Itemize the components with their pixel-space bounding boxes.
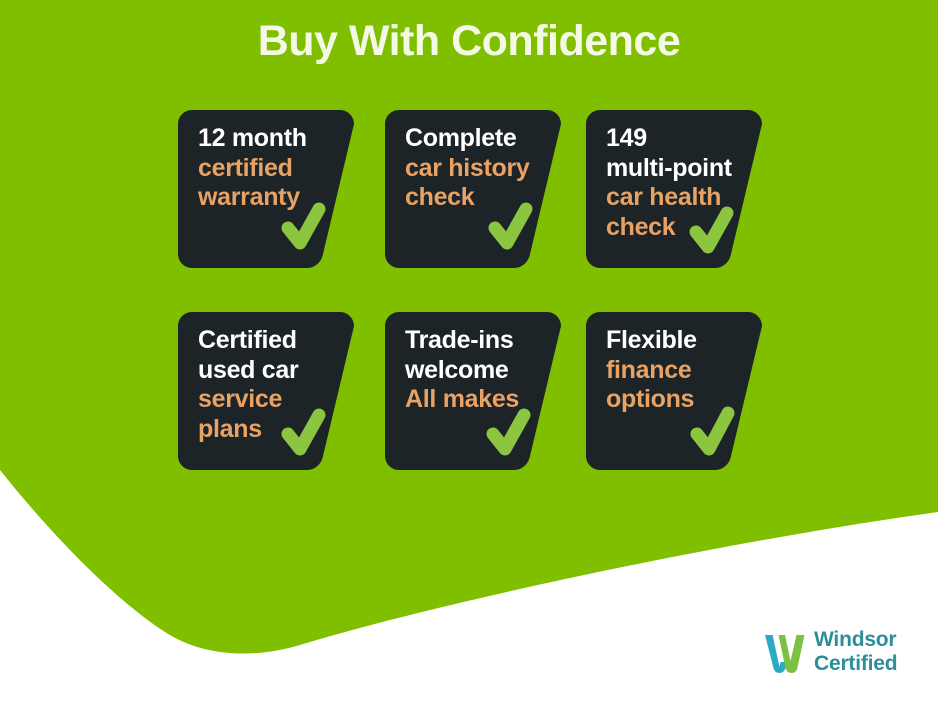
logo-wordmark: Windsor Certified bbox=[814, 628, 897, 676]
page-title: Buy With Confidence bbox=[0, 18, 938, 65]
card-line: Certified bbox=[198, 326, 348, 356]
windsor-certified-logo: Windsor Certified bbox=[762, 628, 922, 684]
card-line: used car bbox=[198, 356, 348, 386]
card-line: 12 month bbox=[198, 124, 348, 154]
card-line: welcome bbox=[405, 356, 560, 386]
card-text-block: 12 month certified warranty bbox=[198, 124, 348, 213]
card-text-block: 149 multi-point car health check bbox=[606, 124, 766, 242]
benefit-card-flexible-finance-options: Flexible finance options bbox=[586, 312, 762, 470]
card-line: multi-point bbox=[606, 154, 766, 184]
card-line: certified bbox=[198, 154, 348, 184]
card-line: car health bbox=[606, 183, 766, 213]
card-line: plans bbox=[198, 415, 348, 445]
card-line: finance bbox=[606, 356, 756, 386]
card-line: 149 bbox=[606, 124, 766, 154]
windsor-w-icon bbox=[762, 630, 808, 676]
card-line: car history bbox=[405, 154, 555, 184]
card-line: Trade-ins bbox=[405, 326, 560, 356]
benefit-card-trade-ins-welcome-all-makes: Trade-ins welcome All makes bbox=[385, 312, 561, 470]
card-line: check bbox=[405, 183, 555, 213]
card-line: Flexible bbox=[606, 326, 756, 356]
card-text-block: Trade-ins welcome All makes bbox=[405, 326, 560, 415]
card-text-block: Certified used car service plans bbox=[198, 326, 348, 444]
card-line: Complete bbox=[405, 124, 555, 154]
logo-line-certified: Certified bbox=[814, 652, 897, 676]
benefit-card-149-multi-point-car-health-check: 149 multi-point car health check bbox=[586, 110, 762, 268]
benefit-card-complete-car-history-check: Complete car history check bbox=[385, 110, 561, 268]
logo-line-windsor: Windsor bbox=[814, 628, 897, 652]
buy-with-confidence-banner: Buy With Confidence 12 month certified w… bbox=[0, 0, 938, 704]
benefit-card-certified-used-car-service-plans: Certified used car service plans bbox=[178, 312, 354, 470]
card-text-block: Flexible finance options bbox=[606, 326, 756, 415]
benefit-card-12-month-certified-warranty: 12 month certified warranty bbox=[178, 110, 354, 268]
card-line: service bbox=[198, 385, 348, 415]
card-line: options bbox=[606, 385, 756, 415]
card-line: warranty bbox=[198, 183, 348, 213]
card-line: check bbox=[606, 213, 766, 243]
card-line: All makes bbox=[405, 385, 560, 415]
card-text-block: Complete car history check bbox=[405, 124, 555, 213]
